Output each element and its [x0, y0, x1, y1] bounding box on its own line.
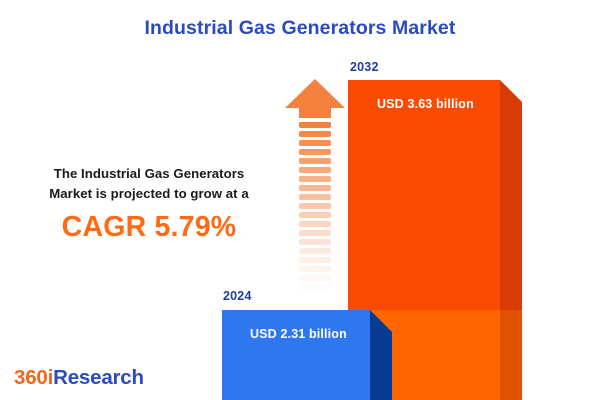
bar-2032-side-face — [500, 80, 522, 400]
bar-value-label-2032: USD 3.63 billion — [377, 97, 474, 111]
brand-logo: 360iResearch — [14, 366, 144, 390]
cagr-value: CAGR 5.79% — [18, 211, 280, 244]
bar-year-label-2032: 2032 — [350, 60, 379, 74]
brand-logo-prefix: 360i — [14, 366, 53, 389]
bar-2024-front-face — [222, 310, 370, 400]
bar-value-label-2024: USD 2.31 billion — [250, 327, 347, 341]
brand-logo-suffix: Research — [53, 366, 144, 389]
caption-line-2: Market is projected to grow at a — [18, 184, 280, 204]
infographic-canvas: Industrial Gas Generators Market 2032 US… — [0, 0, 600, 400]
caption-block: The Industrial Gas Generators Market is … — [18, 164, 280, 244]
bar-year-label-2024: 2024 — [223, 289, 252, 303]
page-title: Industrial Gas Generators Market — [0, 17, 600, 40]
bar-2024-side-face — [370, 310, 392, 400]
bar-2024 — [222, 310, 370, 400]
up-arrow-icon — [284, 78, 346, 293]
caption-line-1: The Industrial Gas Generators — [18, 164, 280, 184]
